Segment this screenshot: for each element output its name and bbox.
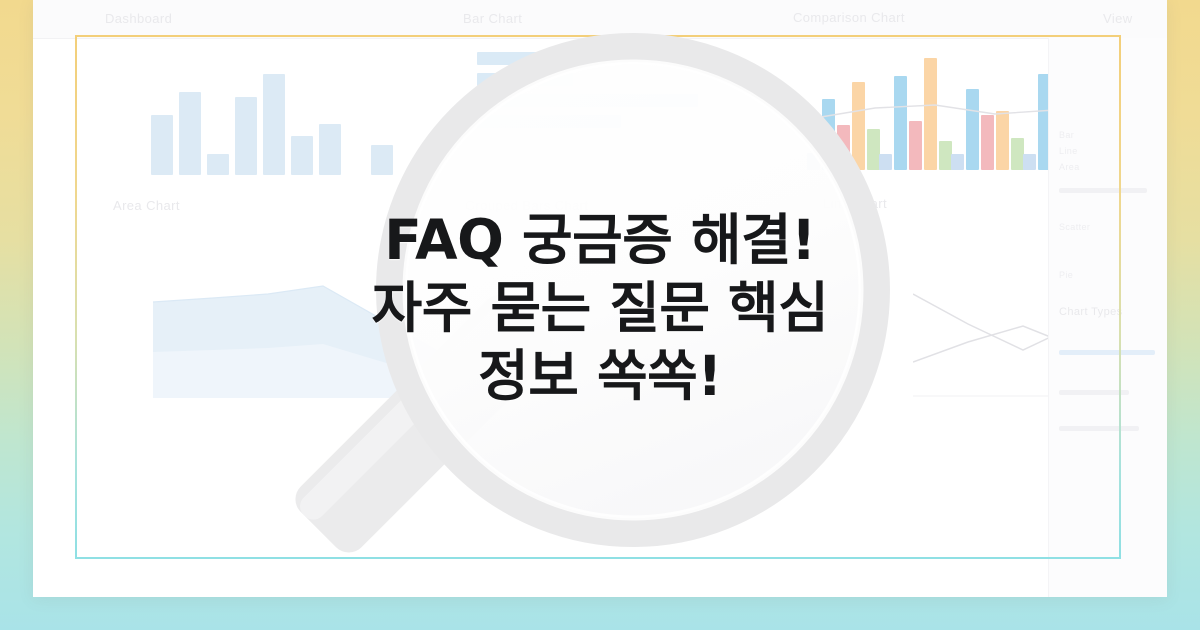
wallpaper-label-dashboard: Dashboard	[105, 11, 172, 26]
wallpaper-label-view: View	[1103, 11, 1133, 26]
dashboard-topbar	[33, 0, 1167, 39]
white-card: Dashboard Bar Chart Comparison Chart Vie…	[33, 0, 1167, 597]
wallpaper-label-comparison-chart: Comparison Chart	[793, 10, 905, 25]
poster-canvas: Dashboard Bar Chart Comparison Chart Vie…	[0, 0, 1200, 630]
wallpaper-label-bar-chart: Bar Chart	[463, 11, 522, 26]
inner-frame-border	[75, 35, 1121, 559]
